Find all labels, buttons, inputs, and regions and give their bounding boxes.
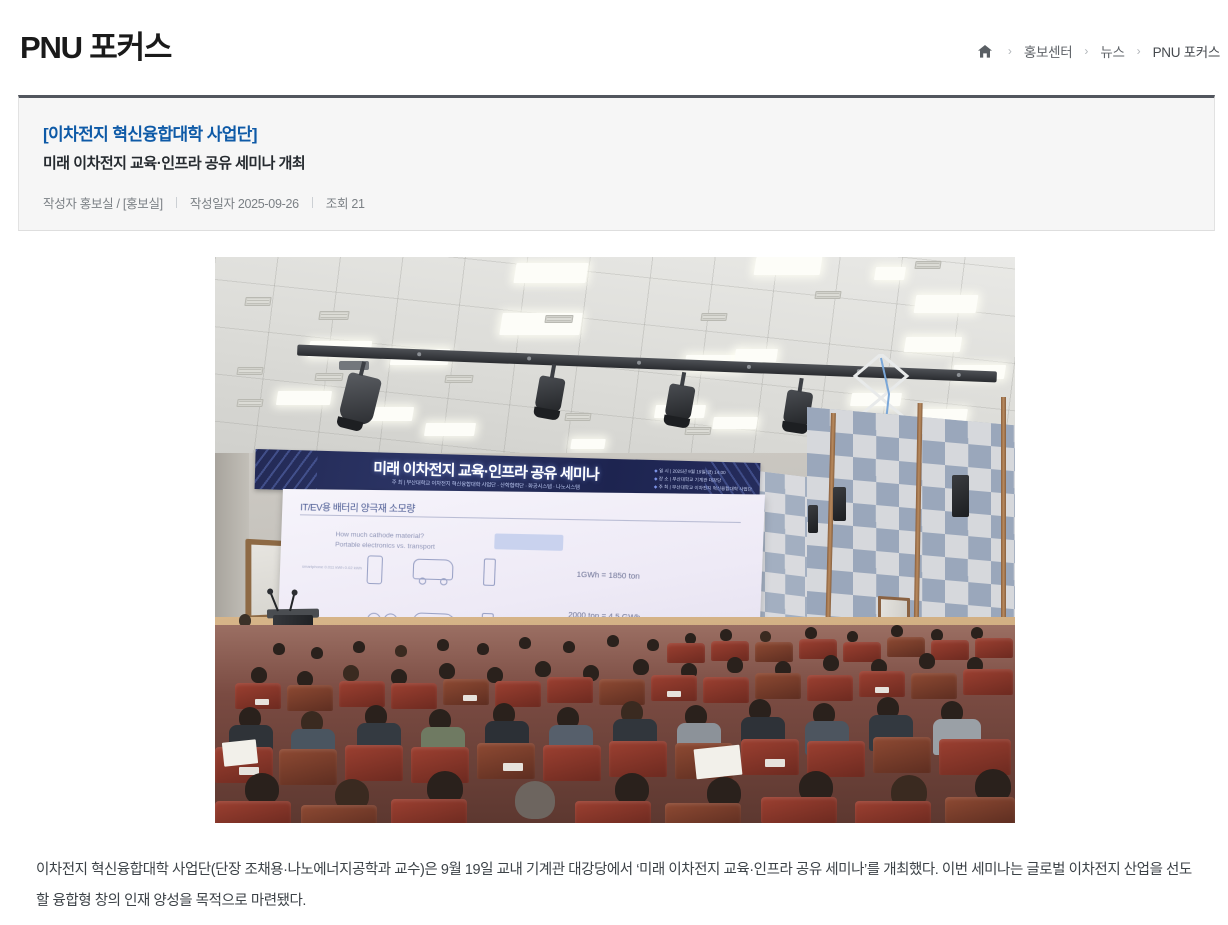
ceiling-light <box>904 337 962 352</box>
breadcrumb-separator: › <box>1072 45 1100 57</box>
article-header-box: [이차전지 혁신융합대학 사업단] 미래 이차전지 교육·인프라 공유 세미나 … <box>18 95 1215 231</box>
car-icon <box>413 559 454 581</box>
audience-seating <box>215 625 1015 823</box>
ceiling-vent <box>814 291 841 299</box>
breadcrumb: › 홍보센터 › 뉴스 › PNU 포커스 <box>974 41 1220 61</box>
page-title: PNU 포커스 <box>20 22 171 67</box>
breadcrumb-separator: › <box>1125 45 1153 57</box>
breadcrumb-item-pnu-focus[interactable]: PNU 포커스 <box>1153 41 1220 61</box>
seminar-auditorium-photo: 미래 이차전지 교육·인프라 공유 세미나 주 최 | 부산대학교 이차전지 혁… <box>215 257 1015 823</box>
ceiling-light <box>754 257 823 275</box>
smartphone-icon <box>366 555 383 584</box>
stage-banner-info: 일 시 | 2025년 9월 19일(금) 14:00 장 소 | 부산대학교 … <box>654 467 755 494</box>
article-category: [이차전지 혁신융합대학 사업단] <box>43 120 1190 145</box>
article-subtitle: 미래 이차전지 교육·인프라 공유 세미나 개최 <box>43 152 1190 173</box>
meta-author: 작성자 홍보실 / [홍보실] <box>43 193 163 212</box>
ceiling-light <box>424 423 476 436</box>
ceiling-light <box>914 295 979 313</box>
battery-icon <box>483 558 496 586</box>
meta-divider <box>176 197 177 208</box>
breadcrumb-item-news[interactable]: 뉴스 <box>1100 41 1124 61</box>
article-body-text: 이차전지 혁신융합대학 사업단(단장 조채용·나노에너지공학과 교수)은 9월 … <box>36 855 1196 917</box>
ceiling-light <box>276 391 332 405</box>
breadcrumb-separator: › <box>996 45 1024 57</box>
meta-divider <box>312 197 313 208</box>
banner-info-line: 주 최 | 부산대학교 이차전지 혁신융합대학 사업단 <box>654 483 754 494</box>
article-meta: 작성자 홍보실 / [홍보실] 작성일자 2025-09-26 조회 21 <box>43 193 1190 212</box>
ceiling-vent <box>564 413 591 421</box>
slide-title: IT/EV용 배터리 양극재 소모량 <box>300 499 415 515</box>
breadcrumb-item-promotion-center[interactable]: 홍보센터 <box>1024 41 1072 61</box>
ceiling-vent <box>244 297 271 306</box>
slide-row-label: smartphone 0.011 kWh 0.02 kWh <box>302 564 351 570</box>
slide-question-2: Portable electronics vs. transport <box>335 540 435 552</box>
ceiling-vent <box>544 315 573 323</box>
ceiling-vent <box>914 261 941 269</box>
ceiling-vent <box>684 427 711 435</box>
wall-speaker <box>833 487 846 521</box>
ceiling-light <box>570 439 606 449</box>
home-icon[interactable] <box>974 42 996 60</box>
ceiling-light <box>734 349 778 362</box>
slide-tag-box <box>494 533 563 550</box>
ceiling-vent <box>444 375 473 383</box>
ceiling-light <box>513 263 588 283</box>
ceiling-light <box>874 267 906 280</box>
slide-row-note <box>499 561 537 562</box>
slide-equation-1: 1GWh = 1850 ton <box>576 572 640 581</box>
meta-views: 조회 21 <box>326 193 365 212</box>
wheel-icon <box>419 577 427 584</box>
ceiling-vent <box>236 367 263 375</box>
ceiling-vent <box>236 399 263 407</box>
ceiling-light <box>712 417 758 429</box>
meta-date: 작성일자 2025-09-26 <box>190 193 299 212</box>
slide-divider <box>300 514 741 523</box>
wall-speaker <box>808 505 818 533</box>
wheel-icon <box>440 578 448 586</box>
article-photo: 미래 이차전지 교육·인프라 공유 세미나 주 최 | 부산대학교 이차전지 혁… <box>215 257 1015 823</box>
page-header: PNU 포커스 › 홍보센터 › 뉴스 › PNU 포커스 <box>0 0 1228 95</box>
ceiling-vent <box>314 373 343 381</box>
ceiling-vent <box>318 311 349 320</box>
wall-speaker <box>952 475 969 517</box>
ceiling-vent <box>700 313 727 321</box>
